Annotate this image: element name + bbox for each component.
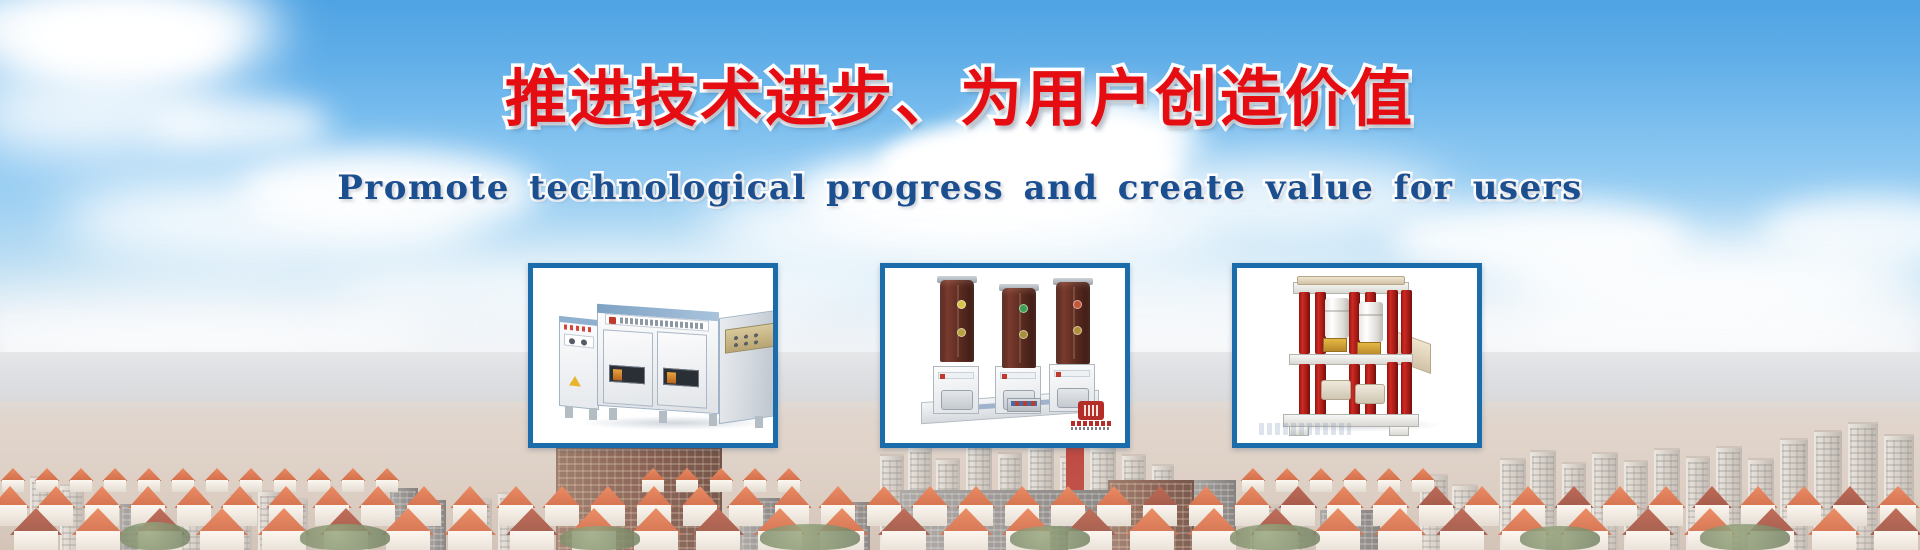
headline-container: 推进技术进步、为用户创造价值 — [0, 48, 1920, 138]
promo-banner: 推进技术进步、为用户创造价值 Promote technological pro… — [0, 0, 1920, 550]
switchgear-cabinet-image — [533, 268, 773, 443]
subtitle-container: Promote technological progress and creat… — [0, 168, 1920, 208]
product-panel-2[interactable] — [880, 263, 1130, 448]
manufacturer-logo — [1071, 401, 1111, 431]
vacuum-contactor-image — [885, 268, 1125, 443]
villa-row-near — [0, 508, 1920, 550]
product-panel-group — [0, 263, 1920, 453]
subtitle-english: Promote technological progress and creat… — [337, 168, 1583, 208]
headline-chinese: 推进技术进步、为用户创造价值 — [505, 48, 1415, 138]
red-insulator-assembly-image — [1237, 268, 1477, 443]
image-watermark — [1259, 423, 1351, 435]
product-panel-3[interactable] — [1232, 263, 1482, 448]
product-panel-1[interactable] — [528, 263, 778, 448]
warning-triangle-icon — [569, 375, 581, 386]
